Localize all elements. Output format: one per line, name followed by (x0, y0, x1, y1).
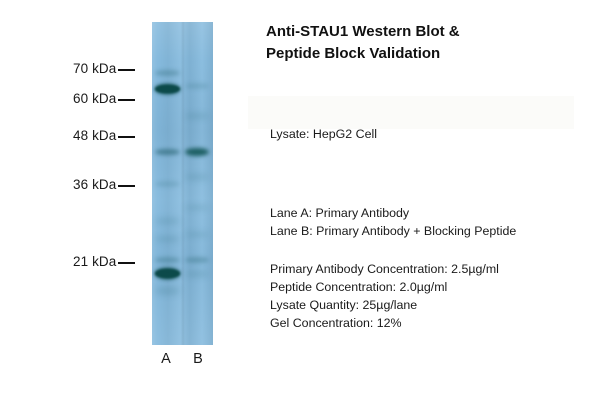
band (155, 149, 180, 155)
figure-title-line-1: Anti-STAU1 Western Blot & (266, 21, 566, 43)
ladder-marker-label: 60 kDa (73, 91, 116, 106)
band (185, 83, 209, 89)
western-blot-figure: 70 kDa 60 kDa 48 kDa 36 kDa 21 kDa (0, 0, 600, 400)
ladder-marker-label: 48 kDa (73, 128, 116, 143)
band (155, 257, 180, 263)
ladder-marker-48kda: 48 kDa (73, 128, 135, 143)
band (155, 70, 180, 76)
lane-separator (181, 22, 185, 345)
band (155, 84, 180, 94)
detail-primary-antibody-concentration: Primary Antibody Concentration: 2.5µg/ml (270, 263, 499, 275)
ladder-tick-icon (118, 262, 135, 264)
band (185, 148, 209, 156)
band (185, 232, 209, 237)
band (155, 287, 180, 295)
band (185, 271, 209, 277)
ladder-marker-label: 70 kDa (73, 61, 116, 76)
ladder-tick-icon (118, 99, 135, 101)
detail-peptide-concentration: Peptide Concentration: 2.0µg/ml (270, 281, 447, 293)
detail-lysate-quantity: Lysate Quantity: 25µg/lane (270, 299, 417, 311)
band (155, 218, 180, 224)
band (155, 268, 180, 279)
band (185, 205, 209, 210)
lane-label-a: A (156, 351, 176, 367)
ladder-marker-label: 36 kDa (73, 177, 116, 192)
lane-a-legend: Lane A: Primary Antibody (270, 207, 409, 219)
band (185, 113, 209, 119)
ladder-marker-60kda: 60 kDa (73, 91, 135, 106)
ladder-tick-icon (118, 69, 135, 71)
ladder-marker-36kda: 36 kDa (73, 177, 135, 192)
lane-label-b: B (188, 351, 208, 367)
figure-title-line-2: Peptide Block Validation (266, 43, 566, 65)
background-panel (248, 96, 574, 129)
lane-b-legend: Lane B: Primary Antibody + Blocking Pept… (270, 225, 516, 237)
band (155, 236, 180, 242)
band (155, 181, 180, 187)
ladder-marker-21kda: 21 kDa (73, 254, 135, 269)
ladder-tick-icon (118, 185, 135, 187)
band (185, 174, 209, 180)
lysate-line: Lysate: HepG2 Cell (270, 128, 377, 140)
ladder-marker-70kda: 70 kDa (73, 61, 135, 76)
figure-title: Anti-STAU1 Western Blot & Peptide Block … (266, 21, 566, 65)
ladder-tick-icon (118, 136, 135, 138)
band (185, 257, 209, 263)
blot-membrane-image (152, 22, 213, 345)
detail-gel-concentration: Gel Concentration: 12% (270, 317, 402, 329)
ladder-marker-label: 21 kDa (73, 254, 116, 269)
